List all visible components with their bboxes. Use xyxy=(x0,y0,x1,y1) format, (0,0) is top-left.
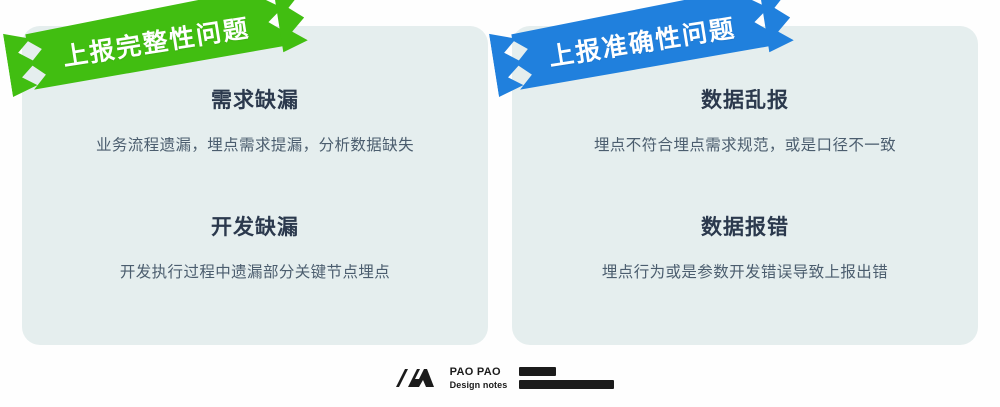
issue-title: 需求缺漏 xyxy=(40,88,470,113)
panel-body: 需求缺漏 业务流程遗漏，埋点需求提漏，分析数据缺失 开发缺漏 开发执行过程中遗漏… xyxy=(22,88,488,284)
footer-inner: PAO PAO Design notes xyxy=(386,365,615,391)
issue-title: 数据报错 xyxy=(530,215,960,240)
issue-description: 埋点行为或是参数开发错误导致上报出错 xyxy=(530,262,960,284)
issue-block: 数据乱报 埋点不符合埋点需求规范，或是口径不一致 xyxy=(530,88,960,157)
mountain-logo-icon xyxy=(386,365,442,391)
redacted-bar-long xyxy=(519,380,614,389)
brand-tagline: Design notes xyxy=(450,381,508,390)
issue-title: 数据乱报 xyxy=(530,88,960,113)
redacted-bar-short xyxy=(519,367,556,376)
panel-body: 数据乱报 埋点不符合埋点需求规范，或是口径不一致 数据报错 埋点行为或是参数开发… xyxy=(512,88,978,284)
issue-block: 需求缺漏 业务流程遗漏，埋点需求提漏，分析数据缺失 xyxy=(40,88,470,157)
brand-text: PAO PAO Design notes xyxy=(450,367,508,390)
issue-block: 开发缺漏 开发执行过程中遗漏部分关键节点埋点 xyxy=(40,215,470,284)
issue-title: 开发缺漏 xyxy=(40,215,470,240)
redaction-bars xyxy=(519,367,614,389)
brand-name: PAO PAO xyxy=(450,367,508,378)
issue-description: 业务流程遗漏，埋点需求提漏，分析数据缺失 xyxy=(40,135,470,157)
footer-watermark: PAO PAO Design notes xyxy=(0,358,1000,398)
issue-description: 开发执行过程中遗漏部分关键节点埋点 xyxy=(40,262,470,284)
infographic-board: 需求缺漏 业务流程遗漏，埋点需求提漏，分析数据缺失 开发缺漏 开发执行过程中遗漏… xyxy=(0,0,1000,407)
issue-description: 埋点不符合埋点需求规范，或是口径不一致 xyxy=(530,135,960,157)
issue-block: 数据报错 埋点行为或是参数开发错误导致上报出错 xyxy=(530,215,960,284)
